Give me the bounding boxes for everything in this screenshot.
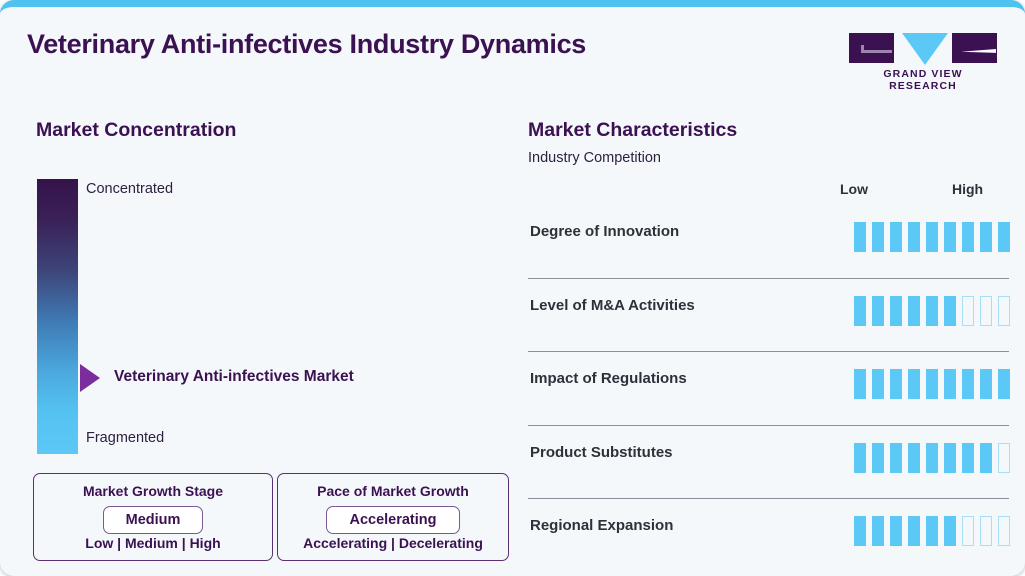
meter-segment-filled <box>872 296 884 326</box>
meter-segment-empty <box>980 516 992 546</box>
meter-segment-filled <box>908 369 920 399</box>
characteristic-meter <box>854 296 1010 326</box>
meter-segment-filled <box>962 369 974 399</box>
meter-segment-filled <box>854 369 866 399</box>
market-characteristics-panel: Market Characteristics Industry Competit… <box>512 89 1025 576</box>
characteristic-label: Product Substitutes <box>530 444 673 461</box>
meter-segment-filled <box>962 222 974 252</box>
meter-segment-filled <box>854 296 866 326</box>
characteristic-row: Product Substitutes <box>528 426 1009 500</box>
characteristic-row: Degree of Innovation <box>528 205 1009 279</box>
characteristic-row: Impact of Regulations <box>528 352 1009 426</box>
logo-r-slash <box>961 49 996 56</box>
growth-stage-value-wrap: Medium <box>34 506 272 534</box>
characteristic-row: Level of M&A Activities <box>528 279 1009 353</box>
pace-of-market-growth-box: Pace of Market Growth Accelerating Accel… <box>277 473 509 561</box>
pace-value: Accelerating <box>326 506 459 534</box>
meter-segment-filled <box>962 443 974 473</box>
meter-segment-filled <box>890 296 902 326</box>
meter-segment-filled <box>998 222 1010 252</box>
logo-g-bar <box>861 50 892 53</box>
pace-title: Pace of Market Growth <box>278 483 508 499</box>
grand-view-research-logo: GRAND VIEW RESEARCH <box>849 33 997 81</box>
market-characteristics-subtitle: Industry Competition <box>528 150 661 166</box>
market-concentration-title: Market Concentration <box>36 119 236 142</box>
meter-segment-empty <box>962 296 974 326</box>
marker-arrow-icon <box>80 364 100 392</box>
characteristic-label: Impact of Regulations <box>530 370 687 387</box>
meter-segment-filled <box>908 516 920 546</box>
meter-segment-filled <box>926 516 938 546</box>
meter-segment-filled <box>980 369 992 399</box>
scale-label-low: Low <box>840 181 868 197</box>
characteristic-row: Regional Expansion <box>528 499 1009 572</box>
meter-segment-filled <box>890 443 902 473</box>
meter-segment-filled <box>944 222 956 252</box>
meter-segment-filled <box>908 222 920 252</box>
meter-segment-filled <box>926 369 938 399</box>
meter-segment-empty <box>998 443 1010 473</box>
meter-segment-filled <box>926 443 938 473</box>
logo-triangle-v-icon <box>902 33 948 65</box>
market-concentration-panel: Market Concentration Concentrated Fragme… <box>0 89 512 576</box>
meter-segment-filled <box>854 443 866 473</box>
market-characteristics-title: Market Characteristics <box>528 119 737 142</box>
pace-scale: Accelerating | Decelerating <box>278 535 508 551</box>
infographic-card: Veterinary Anti-infectives Industry Dyna… <box>0 0 1025 576</box>
meter-segment-filled <box>944 296 956 326</box>
meter-segment-filled <box>872 222 884 252</box>
characteristics-rows: Degree of InnovationLevel of M&A Activit… <box>528 205 1009 572</box>
meter-segment-filled <box>908 443 920 473</box>
meter-segment-filled <box>980 443 992 473</box>
meter-segment-filled <box>980 222 992 252</box>
logo-marks <box>849 33 997 63</box>
meter-segment-filled <box>890 369 902 399</box>
meter-segment-filled <box>890 222 902 252</box>
meter-segment-filled <box>944 443 956 473</box>
meter-segment-filled <box>872 443 884 473</box>
meter-segment-empty <box>962 516 974 546</box>
meter-segment-filled <box>908 296 920 326</box>
meter-segment-filled <box>854 222 866 252</box>
meter-segment-filled <box>926 296 938 326</box>
characteristic-label: Degree of Innovation <box>530 223 679 240</box>
concentration-gradient-bar <box>37 179 78 454</box>
characteristic-label: Regional Expansion <box>530 517 673 534</box>
meter-segment-filled <box>890 516 902 546</box>
meter-segment-empty <box>998 516 1010 546</box>
meter-segment-filled <box>998 369 1010 399</box>
growth-stage-value: Medium <box>103 506 204 534</box>
meter-segment-empty <box>980 296 992 326</box>
growth-stage-title: Market Growth Stage <box>34 483 272 499</box>
meter-segment-filled <box>872 516 884 546</box>
header: Veterinary Anti-infectives Industry Dyna… <box>0 7 1025 89</box>
pace-value-wrap: Accelerating <box>278 506 508 534</box>
meter-segment-filled <box>854 516 866 546</box>
meter-segment-empty <box>998 296 1010 326</box>
concentration-top-label: Concentrated <box>86 181 173 197</box>
characteristic-meter <box>854 516 1010 546</box>
logo-letter-r-icon <box>952 33 997 63</box>
meter-segment-filled <box>872 369 884 399</box>
characteristic-meter <box>854 222 1010 252</box>
concentration-bottom-label: Fragmented <box>86 430 164 446</box>
meter-segment-filled <box>944 369 956 399</box>
logo-letter-g-icon <box>849 33 894 63</box>
characteristic-meter <box>854 443 1010 473</box>
market-growth-stage-box: Market Growth Stage Medium Low | Medium … <box>33 473 273 561</box>
scale-label-high: High <box>952 181 983 197</box>
characteristic-label: Level of M&A Activities <box>530 297 695 314</box>
characteristic-meter <box>854 369 1010 399</box>
meter-segment-filled <box>944 516 956 546</box>
growth-stage-scale: Low | Medium | High <box>34 535 272 551</box>
marker-label: Veterinary Anti-infectives Market <box>114 368 354 386</box>
page-title: Veterinary Anti-infectives Industry Dyna… <box>27 29 586 60</box>
meter-segment-filled <box>926 222 938 252</box>
